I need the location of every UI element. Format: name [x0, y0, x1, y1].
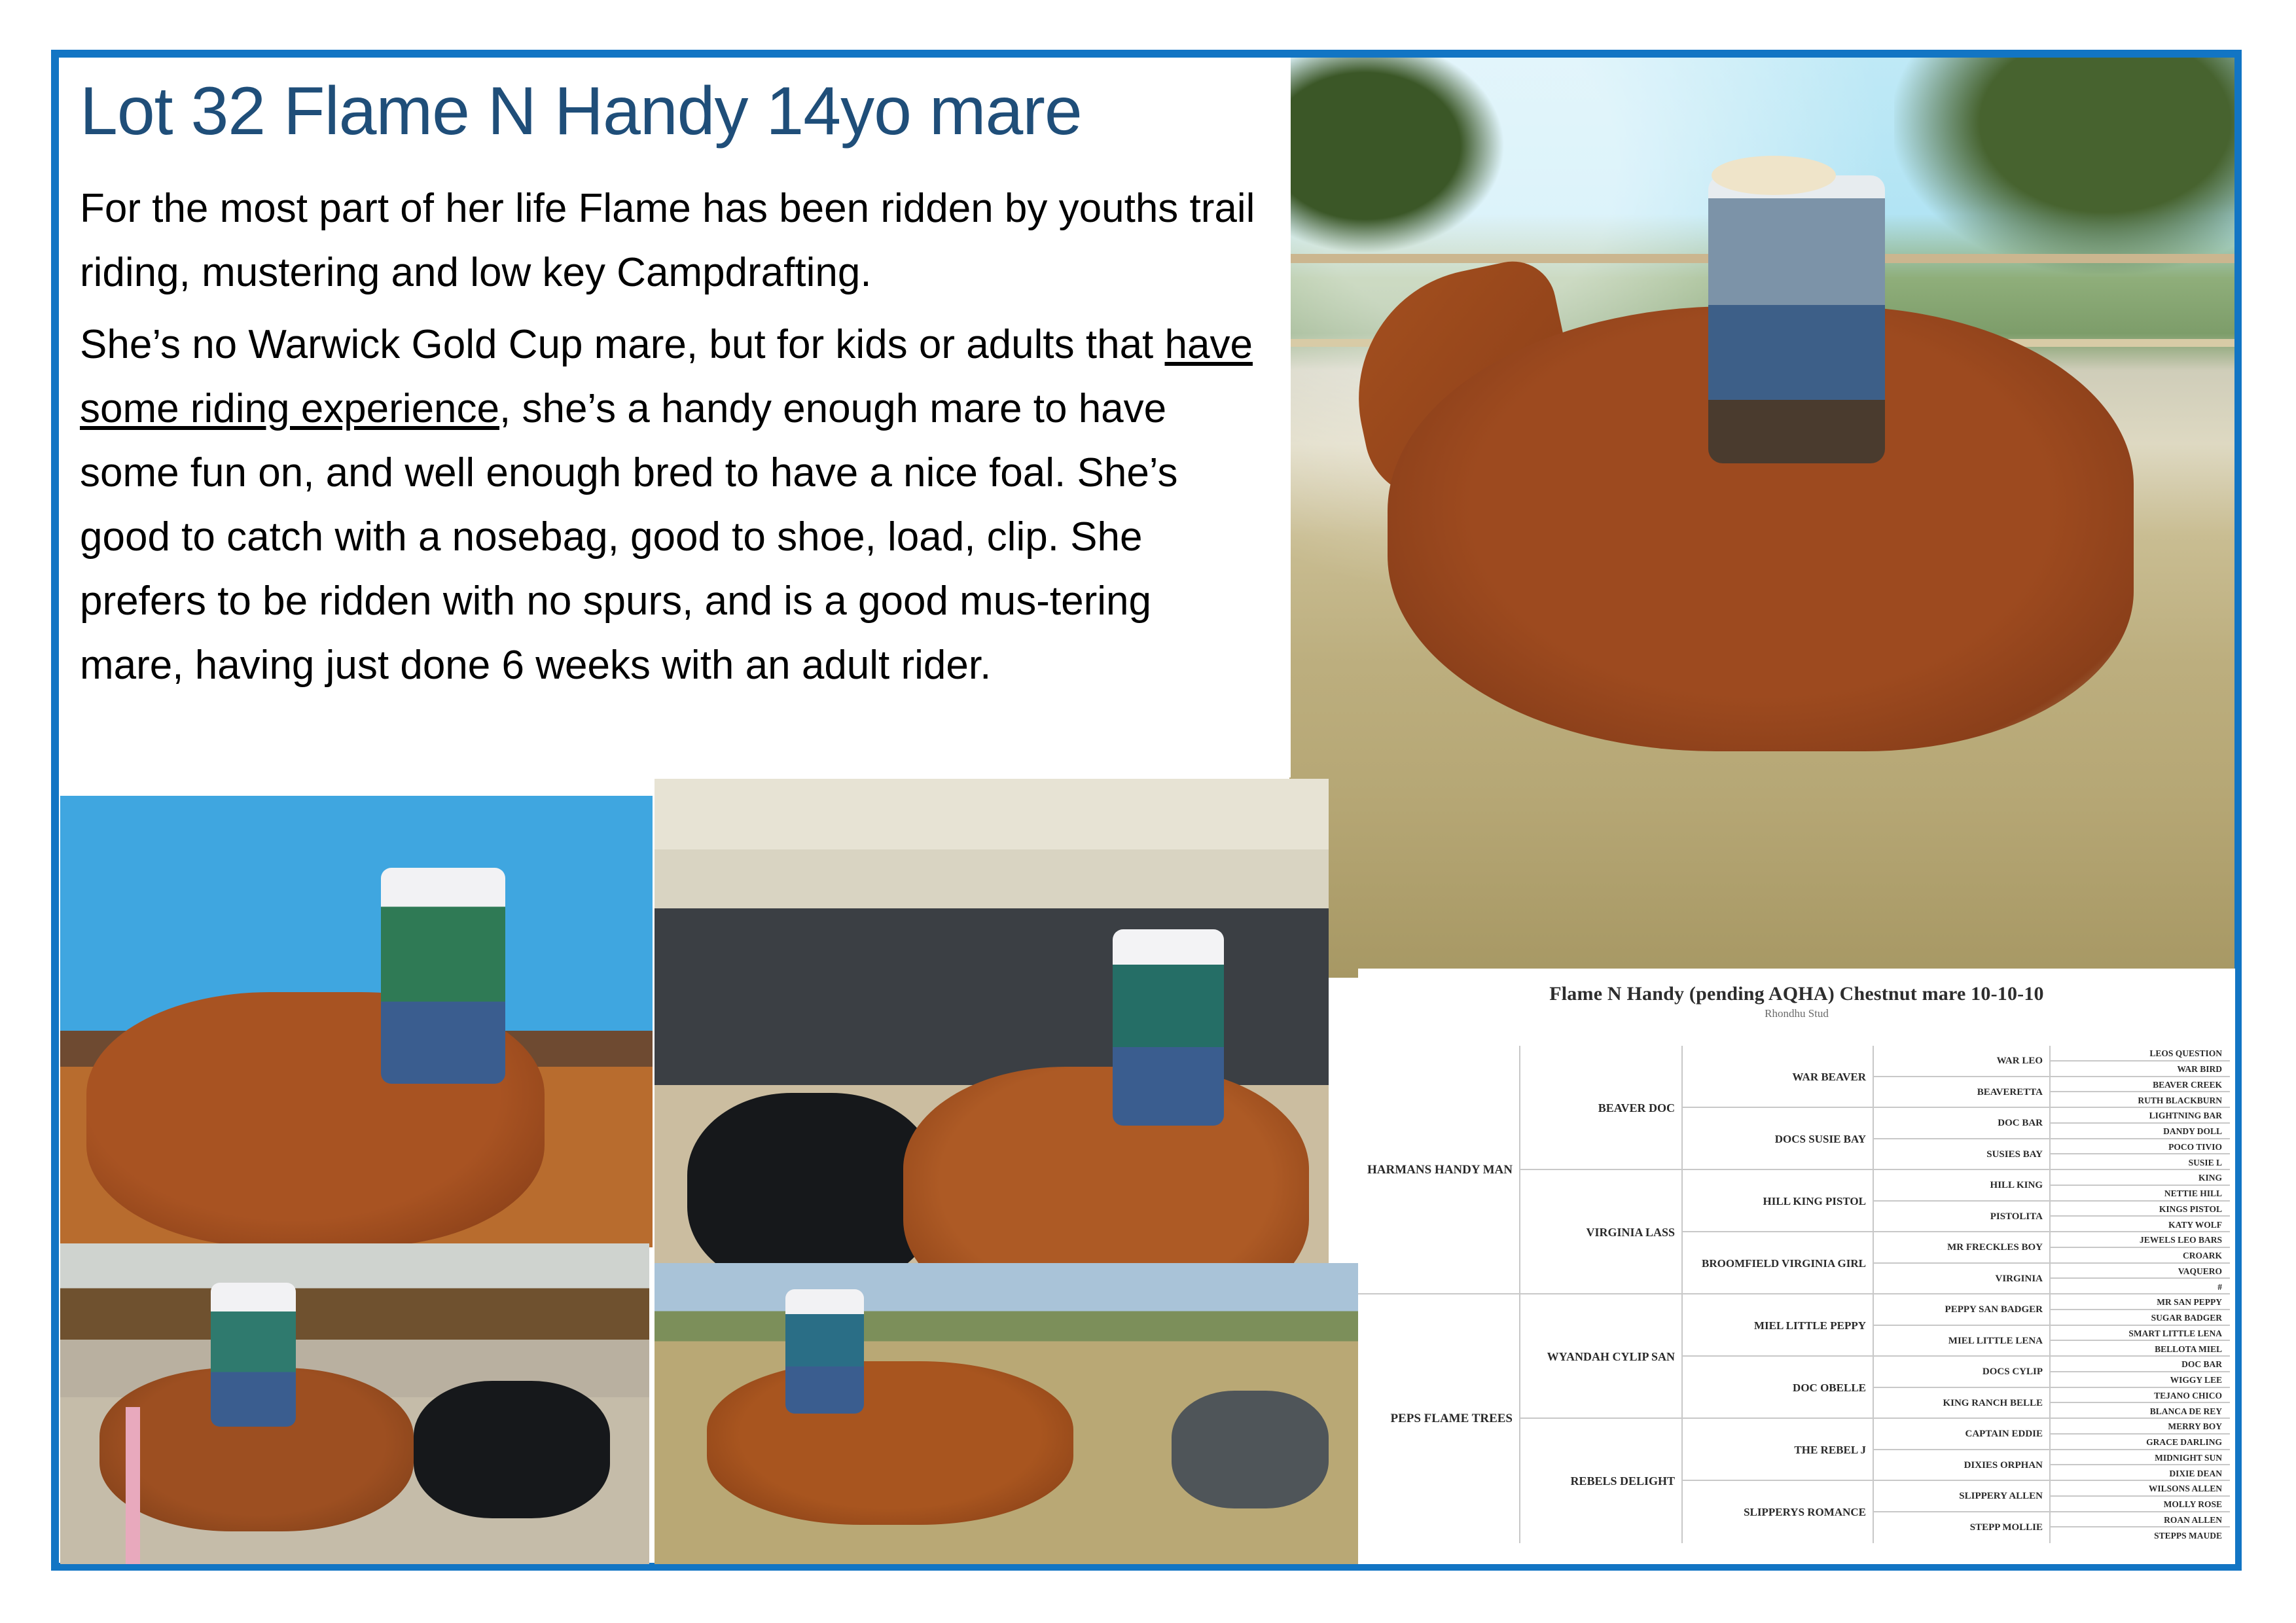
pedigree-cell: KING — [2051, 1170, 2229, 1186]
pedigree-cell: DOC BAR — [1874, 1108, 2049, 1139]
pedigree-cell: VAQUERO — [2051, 1264, 2229, 1279]
pedigree-cell: MIEL LITTLE LENA — [1874, 1326, 2049, 1357]
pedigree-cell: HILL KING — [1874, 1170, 2049, 1202]
description-p2-lead: She’s no Warwick Gold Cup mare, but for … — [80, 322, 1165, 367]
pedigree-cell: WAR LEO — [1874, 1046, 2049, 1077]
pedigree-cell: BEAVERETTA — [1874, 1077, 2049, 1109]
pedigree-name: VAQUERO — [2178, 1266, 2222, 1276]
pedigree-cell: MIEL LITTLE PEPPY — [1683, 1294, 1873, 1357]
pedigree-cell: SLIPPERY ALLEN — [1874, 1481, 2049, 1512]
pedigree-name: DOC BAR — [1998, 1118, 2043, 1129]
pedigree-name: DOC OBELLE — [1793, 1382, 1866, 1394]
pedigree-generation-5: LEOS QUESTIONWAR BIRDBEAVER CREEKRUTH BL… — [2049, 1046, 2229, 1543]
pedigree-name: WAR BIRD — [2177, 1064, 2222, 1074]
pedigree-cell: MERRY BOY — [2051, 1419, 2229, 1435]
pedigree-name: WILSONS ALLEN — [2149, 1484, 2222, 1493]
pedigree-name: BEAVERETTA — [1977, 1087, 2043, 1098]
page-title: Lot 32 Flame N Handy 14yo mare — [60, 58, 1291, 145]
pedigree-title: Flame N Handy (pending AQHA) Chestnut ma… — [1358, 969, 2235, 1005]
pedigree-name: KING — [2198, 1173, 2222, 1183]
pedigree-cell: POCO TIVIO — [2051, 1139, 2229, 1155]
paddock-photo — [655, 1263, 1358, 1564]
pedigree-name: SUSIE L — [2189, 1158, 2222, 1168]
pedigree-cell: DIXIES ORPHAN — [1874, 1450, 2049, 1482]
pedigree-cell: WILSONS ALLEN — [2051, 1481, 2229, 1497]
pedigree-cell: TEJANO CHICO — [2051, 1388, 2229, 1404]
pedigree-cell: DOCS SUSIE BAY — [1683, 1108, 1873, 1170]
rider-figure — [381, 868, 505, 1084]
pedigree-name: THE REBEL J — [1794, 1444, 1866, 1456]
pedigree-name: VIRGINIA — [1995, 1274, 2043, 1285]
pedigree-name: # — [2217, 1282, 2222, 1292]
pedigree-name: SUSIES BAY — [1986, 1149, 2043, 1160]
pedigree-name: MR SAN PEPPY — [2157, 1297, 2222, 1307]
pedigree-cell: DOC OBELLE — [1683, 1357, 1873, 1419]
pedigree-cell: BELLOTA MIEL — [2051, 1341, 2229, 1357]
pedigree-name: LEOS QUESTION — [2149, 1048, 2222, 1058]
pedigree-name: CAPTAIN EDDIE — [1965, 1429, 2043, 1440]
pedigree-cell: RUTH BLACKBURN — [2051, 1092, 2229, 1108]
pedigree-name: DOC BAR — [2181, 1359, 2222, 1369]
pedigree-cell: KINGS PISTOL — [2051, 1202, 2229, 1217]
pedigree-name: PEPPY SAN BADGER — [1945, 1304, 2043, 1315]
pedigree-name: SUGAR BADGER — [2151, 1313, 2222, 1323]
pedigree-cell: PEPS FLAME TREES — [1358, 1294, 1519, 1543]
pedigree-cell: WYANDAH CYLIP SAN — [1520, 1294, 1681, 1419]
pedigree-cell: SUSIE L — [2051, 1154, 2229, 1170]
pedigree-generation-4: WAR LEOBEAVERETTADOC BARSUSIES BAYHILL K… — [1873, 1046, 2049, 1543]
pedigree-cell: SLIPPERYS ROMANCE — [1683, 1481, 1873, 1543]
pedigree-name: VIRGINIA LASS — [1586, 1226, 1675, 1239]
pedigree-name: HILL KING — [1990, 1180, 2043, 1191]
pedigree-cell: ROAN ALLEN — [2051, 1512, 2229, 1528]
pedigree-cell: KATY WOLF — [2051, 1217, 2229, 1232]
pedigree-name: BEAVER CREEK — [2153, 1080, 2222, 1090]
pedigree-name: LIGHTNING BAR — [2149, 1111, 2222, 1120]
pedigree-name: HILL KING PISTOL — [1763, 1195, 1866, 1207]
pedigree-name: PEPS FLAME TREES — [1390, 1412, 1513, 1425]
pedigree-name: HARMANS HANDY MAN — [1367, 1163, 1513, 1177]
hero-photo — [1289, 58, 2234, 978]
pedigree-name: BROOMFIELD VIRGINIA GIRL — [1702, 1257, 1866, 1270]
pedigree-name: SMART LITTLE LENA — [2128, 1329, 2222, 1338]
pedigree-cell: STEPPS MAUDE — [2051, 1527, 2229, 1543]
pedigree-cell: PISTOLITA — [1874, 1202, 2049, 1233]
pedigree-name: DOCS SUSIE BAY — [1775, 1133, 1866, 1145]
pedigree-name: BLANCA DE REY — [2150, 1406, 2222, 1416]
pedigree-cell: BEAVER CREEK — [2051, 1077, 2229, 1093]
pedigree-name: KATY WOLF — [2168, 1220, 2222, 1230]
pedigree-grid: HARMANS HANDY MANPEPS FLAME TREES BEAVER… — [1358, 1046, 2235, 1543]
calf-figure — [1172, 1391, 1329, 1508]
girl-trail-photo — [60, 796, 653, 1247]
pedigree-name: NETTIE HILL — [2164, 1188, 2222, 1198]
pedigree-name: DOCS CYLIP — [1982, 1366, 2043, 1378]
pedigree-name: MIEL LITTLE LENA — [1948, 1336, 2043, 1347]
pedigree-name: KING RANCH BELLE — [1943, 1398, 2043, 1409]
tree-foliage-right-icon — [1894, 58, 2234, 274]
pedigree-name: PISTOLITA — [1990, 1211, 2043, 1222]
pedigree-name: DIXIES ORPHAN — [1964, 1460, 2043, 1471]
pedigree-name: CROARK — [2183, 1251, 2222, 1260]
pedigree-name: GRACE DARLING — [2146, 1437, 2222, 1447]
pedigree-cell: KING RANCH BELLE — [1874, 1388, 2049, 1419]
rider-figure — [1708, 175, 1885, 463]
pedigree-name: MIDNIGHT SUN — [2155, 1453, 2222, 1463]
rider-figure — [1113, 929, 1224, 1126]
pedigree-name: SLIPPERYS ROMANCE — [1744, 1506, 1866, 1518]
pedigree-name: RUTH BLACKBURN — [2138, 1096, 2222, 1105]
pedigree-name: DANDY DOLL — [2163, 1126, 2222, 1136]
description-paragraph-2: She’s no Warwick Gold Cup mare, but for … — [60, 305, 1291, 698]
pedigree-name: MR FRECKLES BOY — [1947, 1242, 2043, 1253]
pedigree-name: BEAVER DOC — [1598, 1101, 1675, 1115]
arena-post — [126, 1407, 140, 1564]
pedigree-name: ROAN ALLEN — [2164, 1515, 2222, 1525]
pedigree-generation-2: BEAVER DOCVIRGINIA LASSWYANDAH CYLIP SAN… — [1519, 1046, 1681, 1543]
pedigree-name: MIEL LITTLE PEPPY — [1754, 1319, 1866, 1332]
pedigree-cell: CROARK — [2051, 1248, 2229, 1264]
pedigree-generation-3: WAR BEAVERDOCS SUSIE BAYHILL KING PISTOL… — [1681, 1046, 1873, 1543]
pedigree-name: TEJANO CHICO — [2154, 1391, 2222, 1400]
pedigree-cell: BLANCA DE REY — [2051, 1403, 2229, 1419]
pedigree-name: MERRY BOY — [2168, 1421, 2222, 1431]
rider-figure — [211, 1283, 296, 1427]
pedigree-cell: DOC BAR — [2051, 1357, 2229, 1372]
description-panel: Lot 32 Flame N Handy 14yo mare For the m… — [60, 58, 1291, 777]
pedigree-cell: VIRGINIA — [1874, 1264, 2049, 1295]
horse-body — [707, 1361, 1073, 1525]
tree-foliage-left-icon — [1289, 58, 1505, 254]
pedigree-cell: PEPPY SAN BADGER — [1874, 1294, 2049, 1326]
pedigree-name: POCO TIVIO — [2168, 1142, 2222, 1152]
pedigree-cell: WAR BIRD — [2051, 1061, 2229, 1077]
pedigree-cell: SMART LITTLE LENA — [2051, 1326, 2229, 1342]
calf-figure — [414, 1381, 610, 1518]
pedigree-cell: # — [2051, 1279, 2229, 1294]
pedigree-panel: Flame N Handy (pending AQHA) Chestnut ma… — [1358, 969, 2235, 1564]
pedigree-subtitle: Rhondhu Stud — [1358, 1005, 2235, 1020]
pedigree-cell: LEOS QUESTION — [2051, 1046, 2229, 1061]
pedigree-cell: WAR BEAVER — [1683, 1046, 1873, 1108]
pedigree-name: MOLLY ROSE — [2164, 1499, 2222, 1509]
pedigree-name: WIGGY LEE — [2170, 1375, 2222, 1385]
pedigree-cell: JEWELS LEO BARS — [2051, 1232, 2229, 1248]
pedigree-cell: STEPP MOLLIE — [1874, 1512, 2049, 1544]
pedigree-name: SLIPPERY ALLEN — [1959, 1491, 2043, 1502]
pedigree-cell: GRACE DARLING — [2051, 1435, 2229, 1450]
pedigree-name: JEWELS LEO BARS — [2140, 1235, 2222, 1245]
pedigree-cell: LIGHTNING BAR — [2051, 1108, 2229, 1124]
pedigree-cell: BROOMFIELD VIRGINIA GIRL — [1683, 1232, 1873, 1294]
pedigree-cell: DIXIE DEAN — [2051, 1465, 2229, 1481]
arena-photo — [60, 1243, 649, 1564]
pedigree-name: REBELS DELIGHT — [1570, 1474, 1675, 1488]
pedigree-generation-1: HARMANS HANDY MANPEPS FLAME TREES — [1358, 1046, 1519, 1543]
pedigree-name: STEPPS MAUDE — [2154, 1531, 2222, 1541]
pedigree-cell: REBELS DELIGHT — [1520, 1419, 1681, 1543]
pedigree-cell: THE REBEL J — [1683, 1419, 1873, 1481]
pedigree-cell: SUGAR BADGER — [2051, 1310, 2229, 1326]
pedigree-name: DIXIE DEAN — [2169, 1469, 2222, 1478]
pedigree-name: KINGS PISTOL — [2159, 1204, 2222, 1214]
pedigree-cell: SUSIES BAY — [1874, 1139, 2049, 1171]
pedigree-cell: NETTIE HILL — [2051, 1186, 2229, 1202]
pedigree-name: WYANDAH CYLIP SAN — [1547, 1350, 1675, 1363]
pedigree-cell: HARMANS HANDY MAN — [1358, 1046, 1519, 1294]
description-paragraph-1: For the most part of her life Flame has … — [60, 145, 1291, 305]
pedigree-cell: MIDNIGHT SUN — [2051, 1450, 2229, 1466]
pedigree-cell: VIRGINIA LASS — [1520, 1170, 1681, 1294]
pedigree-cell: DANDY DOLL — [2051, 1124, 2229, 1139]
pedigree-cell: HILL KING PISTOL — [1683, 1170, 1873, 1232]
rider-hat — [1712, 156, 1836, 195]
pedigree-name: STEPP MOLLIE — [1970, 1522, 2043, 1533]
pedigree-cell: CAPTAIN EDDIE — [1874, 1419, 2049, 1450]
calf-figure — [687, 1093, 936, 1289]
pedigree-cell: MOLLY ROSE — [2051, 1497, 2229, 1512]
pedigree-name: WAR LEO — [1997, 1056, 2043, 1067]
pedigree-cell: MR SAN PEPPY — [2051, 1294, 2229, 1310]
pedigree-name: WAR BEAVER — [1792, 1071, 1866, 1083]
poster-page: Lot 32 Flame N Handy 14yo mare For the m… — [0, 0, 2296, 1623]
pedigree-cell: MR FRECKLES BOY — [1874, 1232, 2049, 1264]
pedigree-cell: DOCS CYLIP — [1874, 1357, 2049, 1388]
pedigree-cell: BEAVER DOC — [1520, 1046, 1681, 1170]
pedigree-name: BELLOTA MIEL — [2155, 1344, 2222, 1354]
rider-figure — [785, 1289, 864, 1414]
pedigree-cell: WIGGY LEE — [2051, 1372, 2229, 1388]
